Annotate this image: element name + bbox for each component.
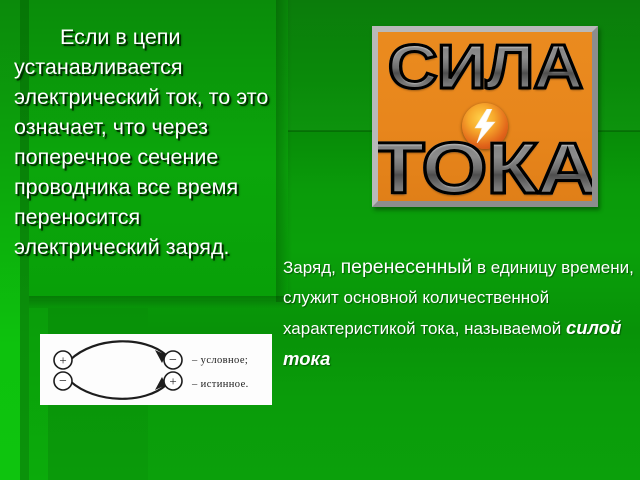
- title-word-sila: СИЛА: [378, 36, 592, 100]
- diagram-legend-conventional: – условное;: [192, 355, 248, 366]
- right-paragraph: Заряд, перенесенный в единицу времени, с…: [283, 252, 635, 375]
- svg-text:+: +: [59, 353, 66, 368]
- slide-canvas: Если в цепи устанавливается электрически…: [0, 0, 640, 480]
- title-image-inner: СИЛА ТОКА: [378, 32, 592, 201]
- charge-direction-diagram: + − − + – условное; – истинное.: [40, 334, 272, 405]
- diagram-legend-true: – истинное.: [192, 379, 249, 390]
- title-word-toka: ТОКА: [378, 132, 592, 201]
- svg-text:−: −: [59, 374, 67, 389]
- left-paragraph: Если в цепи устанавливается электрически…: [14, 22, 276, 262]
- title-image: СИЛА ТОКА: [372, 26, 598, 207]
- background-lower-shadow: [24, 296, 292, 308]
- right-paragraph-part1: Заряд,: [283, 258, 341, 277]
- svg-text:−: −: [169, 353, 177, 368]
- right-paragraph-emphasis: перенесенный: [341, 256, 473, 278]
- svg-text:+: +: [169, 374, 176, 389]
